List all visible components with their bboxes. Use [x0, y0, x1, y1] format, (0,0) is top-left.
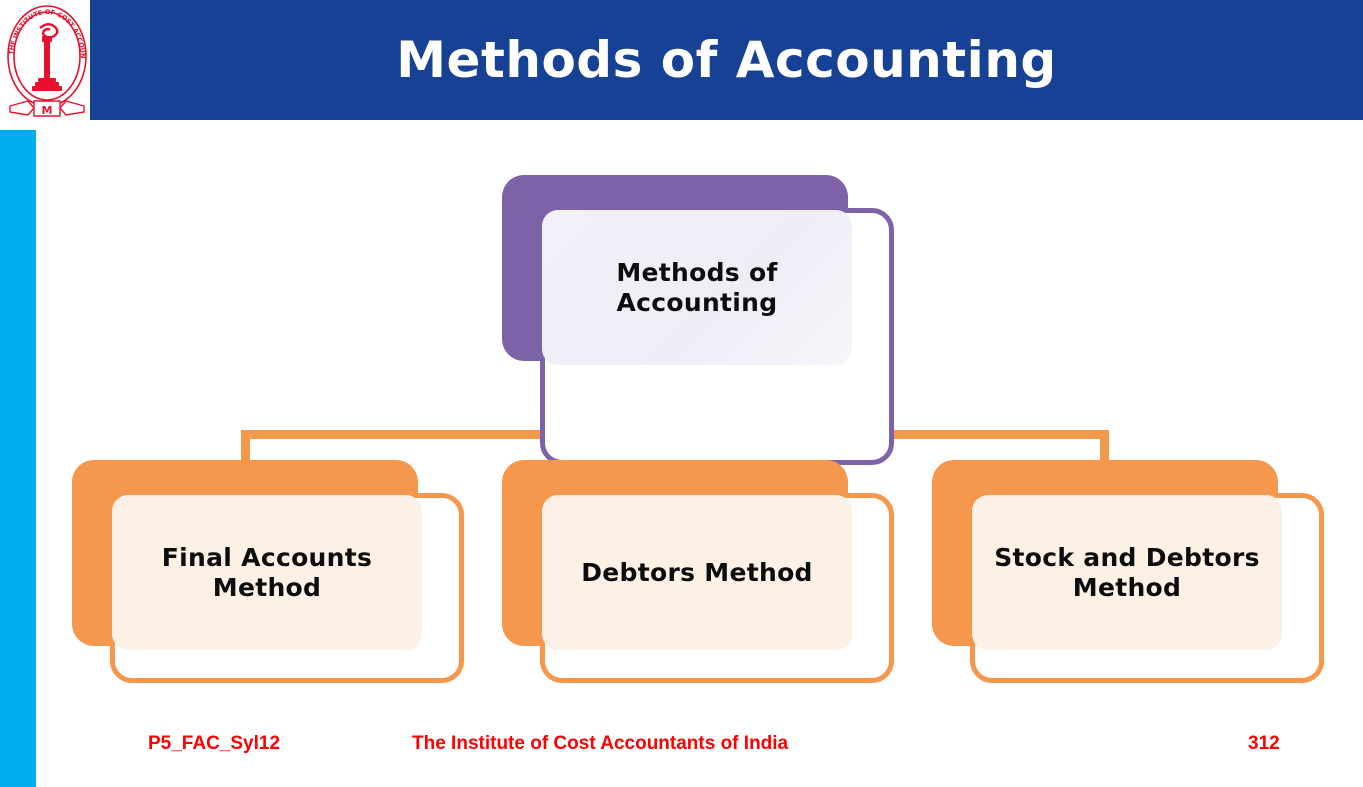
node-final-accounts-method[interactable]: Final Accounts Method [72, 460, 464, 683]
node-label-line2: Accounting [616, 288, 777, 318]
node-stock-and-debtors-method[interactable]: Stock and Debtors Method [932, 460, 1324, 683]
connector-stub-final-accounts [241, 430, 250, 463]
footer-institute-name: The Institute of Cost Accountants of Ind… [412, 733, 788, 755]
node-label-group: Methods of Accounting [616, 258, 777, 317]
footer-page-number: 312 [1248, 733, 1280, 755]
node-inner-panel: Stock and Debtors Method [972, 495, 1282, 650]
connector-stub-stock-and-debtors [1100, 430, 1109, 463]
footer-subject-code: P5_FAC_Syl12 [148, 733, 280, 755]
node-label-line1: Methods of [616, 258, 777, 288]
node-label-line2: Method [994, 573, 1260, 603]
svg-text:M: M [42, 104, 53, 117]
page-title: Methods of Accounting [90, 0, 1363, 120]
institute-logo-icon: THE INSTITUTE OF COST ACCOUNTANTS OF IND… [4, 2, 90, 124]
node-label-group: Final Accounts Method [162, 543, 372, 602]
node-label-line2: Method [162, 573, 372, 603]
node-inner-panel: Methods of Accounting [542, 210, 852, 365]
slide-canvas: Methods of Accounting THE INSTITUTE OF C… [0, 0, 1363, 787]
node-methods-of-accounting[interactable]: Methods of Accounting [502, 175, 894, 465]
node-label-group: Stock and Debtors Method [994, 543, 1260, 602]
slide-footer: P5_FAC_Syl12 The Institute of Cost Accou… [0, 733, 1363, 767]
node-label-line1: Final Accounts [162, 543, 372, 573]
node-label-line1: Debtors Method [581, 558, 813, 588]
methods-hierarchy-diagram: Methods of Accounting Final Accounts Met… [0, 120, 1363, 720]
node-inner-panel: Final Accounts Method [112, 495, 422, 650]
node-label-line1: Stock and Debtors [994, 543, 1260, 573]
node-inner-panel: Debtors Method [542, 495, 852, 650]
node-debtors-method[interactable]: Debtors Method [502, 460, 894, 683]
node-label-group: Debtors Method [581, 558, 813, 588]
